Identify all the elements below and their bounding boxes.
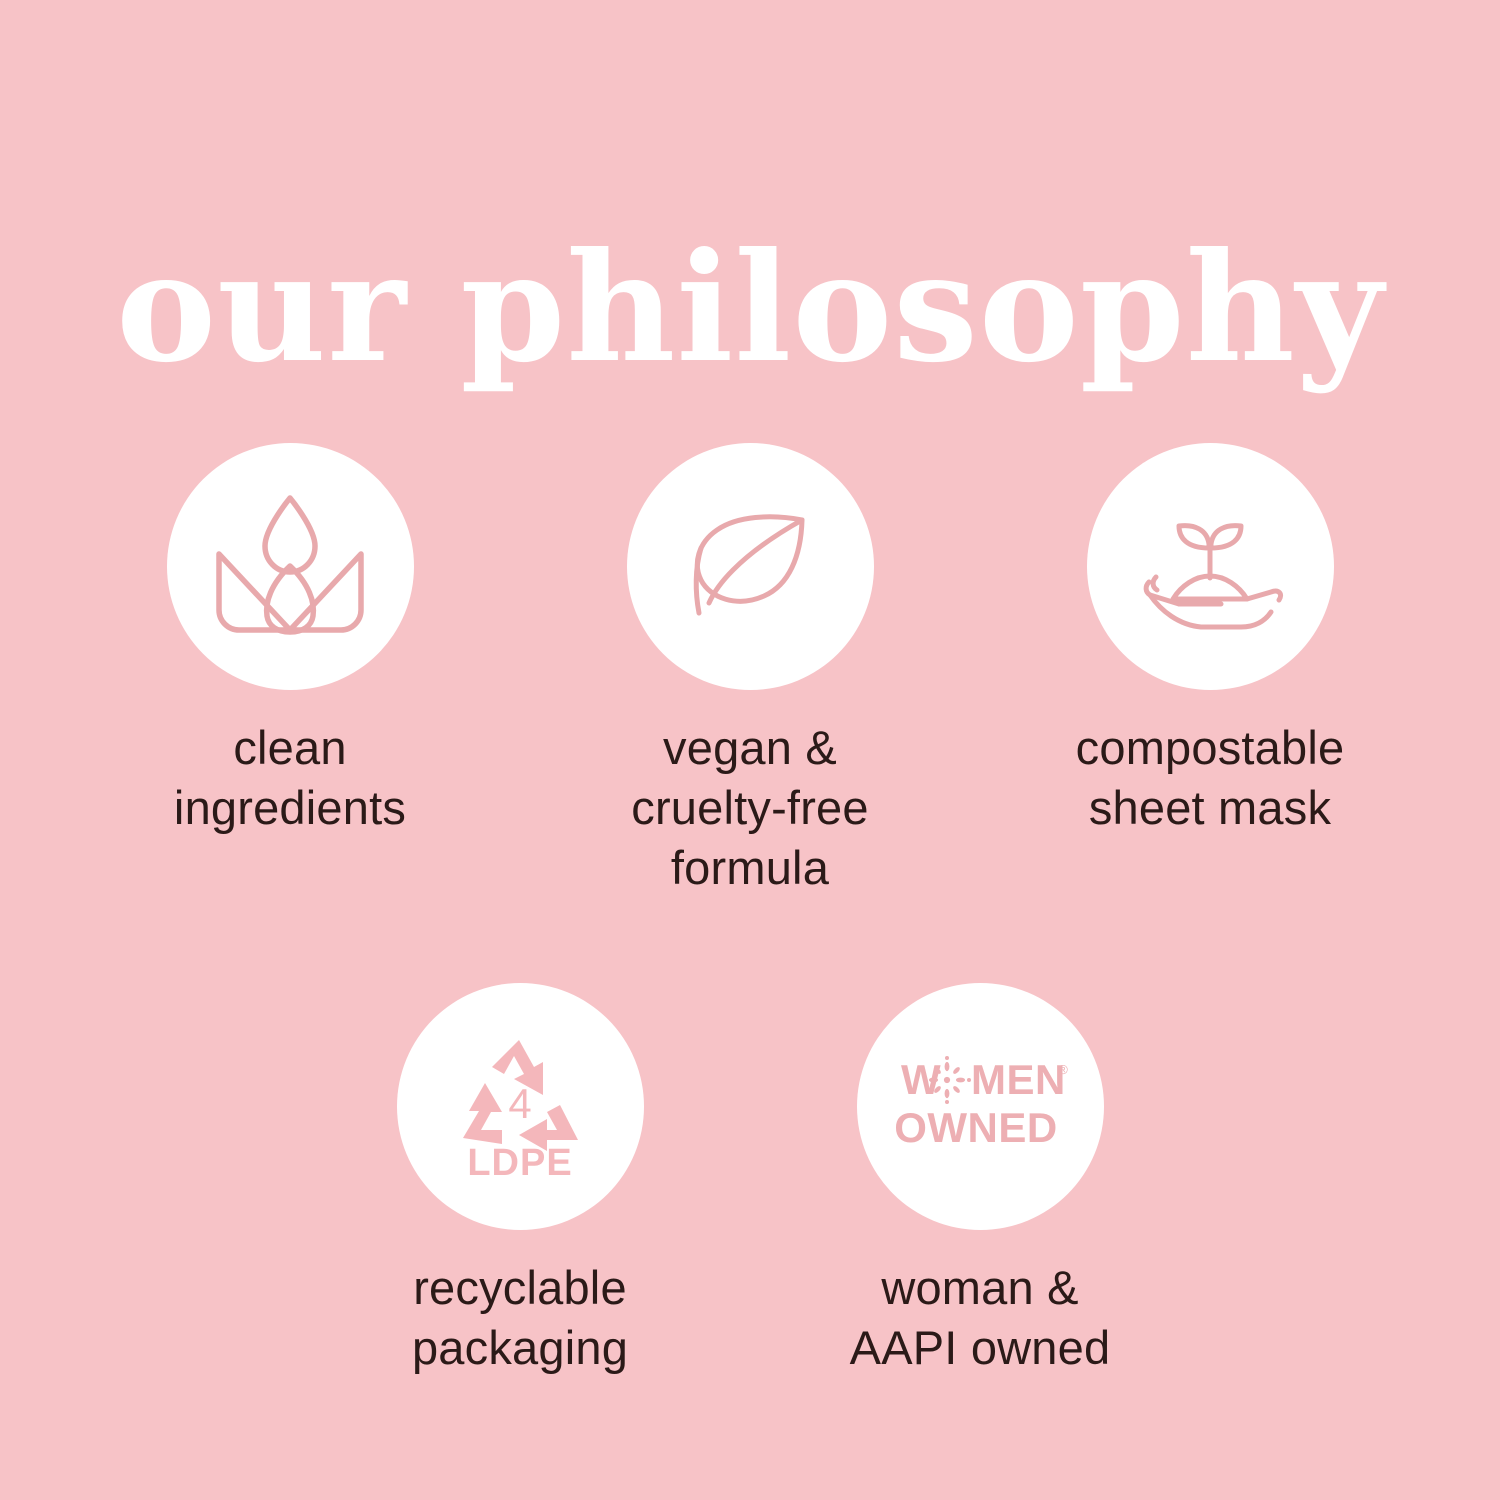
badge-vegan-cruelty-free — [627, 443, 874, 690]
women-text-suffix: MEN — [971, 1056, 1066, 1103]
pillar-compostable-sheet-mask: compostable sheet mask — [980, 443, 1440, 838]
recycle-ldpe-4-icon: 4 LDPE — [435, 1022, 605, 1192]
philosophy-infographic: our philosophy cle — [0, 0, 1500, 1500]
badge-compostable-sheet-mask — [1087, 443, 1334, 690]
pillar-label: woman & AAPI owned — [850, 1258, 1111, 1378]
registered-mark: ® — [1058, 1062, 1068, 1077]
leaf-icon — [665, 482, 835, 652]
women-owned-badge-icon: W — [885, 1052, 1075, 1162]
badge-woman-aapi-owned: W — [857, 983, 1104, 1230]
pillar-woman-aapi-owned: W — [750, 983, 1210, 1378]
svg-text:4: 4 — [508, 1080, 531, 1127]
droplet-leaves-icon — [205, 482, 375, 652]
pillar-vegan-cruelty-free: vegan & cruelty-free formula — [520, 443, 980, 898]
pillar-clean-ingredients: clean ingredients — [60, 443, 520, 838]
pillar-row-2: 4 LDPE recyclable packaging W — [0, 983, 1500, 1378]
pillar-label: vegan & cruelty-free formula — [631, 718, 868, 898]
hand-sprout-icon — [1125, 482, 1295, 652]
pillar-label: clean ingredients — [174, 718, 406, 838]
badge-recyclable-packaging: 4 LDPE — [397, 983, 644, 1230]
ldpe-label: LDPE — [467, 1142, 572, 1184]
pillar-label: compostable sheet mask — [1076, 718, 1345, 838]
owned-text: OWNED — [894, 1104, 1058, 1151]
badge-clean-ingredients — [167, 443, 414, 690]
pillar-row-1: clean ingredients vegan & cruelty-free f… — [0, 443, 1500, 898]
pillar-label: recyclable packaging — [412, 1258, 628, 1378]
pillar-recyclable-packaging: 4 LDPE recyclable packaging — [290, 983, 750, 1378]
page-title: our philosophy — [0, 233, 1500, 383]
